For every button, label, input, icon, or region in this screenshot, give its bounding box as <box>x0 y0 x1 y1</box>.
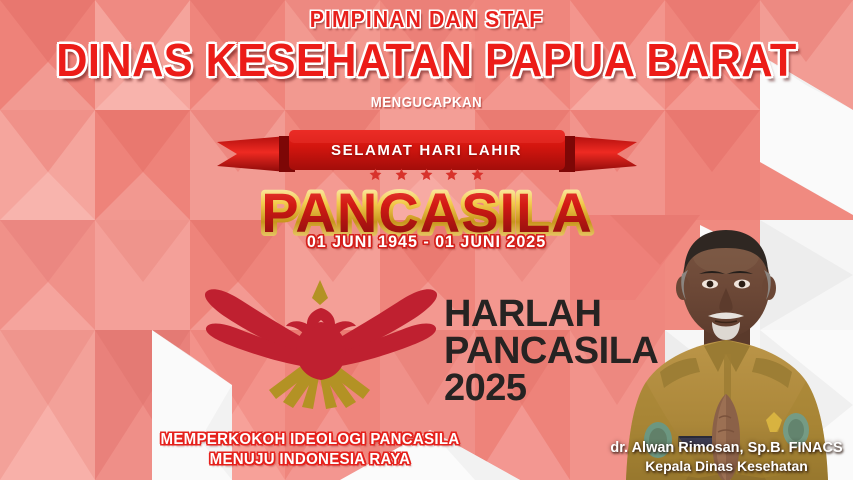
five-stars-row <box>0 168 853 181</box>
official-caption: dr. Alwan Rimosan, Sp.B. FINACS Kepala D… <box>600 440 853 475</box>
star-icon <box>369 168 382 181</box>
garuda-pancasila-logo <box>196 262 446 427</box>
slogan-line-2: MENUJU INDONESIA RAYA <box>19 450 602 470</box>
star-icon <box>471 168 484 181</box>
header-line-organization: DINAS KESEHATAN PAPUA BARAT <box>26 33 828 87</box>
official-name: dr. Alwan Rimosan, Sp.B. FINACS <box>600 440 853 458</box>
star-icon <box>395 168 408 181</box>
star-icon <box>420 168 433 181</box>
pancasila-greeting-poster: PIMPINAN DAN STAF DINAS KESEHATAN PAPUA … <box>0 0 853 480</box>
slogan-line-1: MEMPERKOKOH IDEOLOGI PANCASILA <box>19 430 602 450</box>
header-line-pimpinan: PIMPINAN DAN STAF <box>34 6 819 33</box>
garuda-eagle-icon <box>196 262 446 427</box>
bottom-slogan: MEMPERKOKOH IDEOLOGI PANCASILA MENUJU IN… <box>19 430 602 469</box>
header-line-mengucapkan: MENGUCAPKAN <box>51 94 802 111</box>
official-role: Kepala Dinas Kesehatan <box>600 458 853 475</box>
star-icon <box>445 168 458 181</box>
